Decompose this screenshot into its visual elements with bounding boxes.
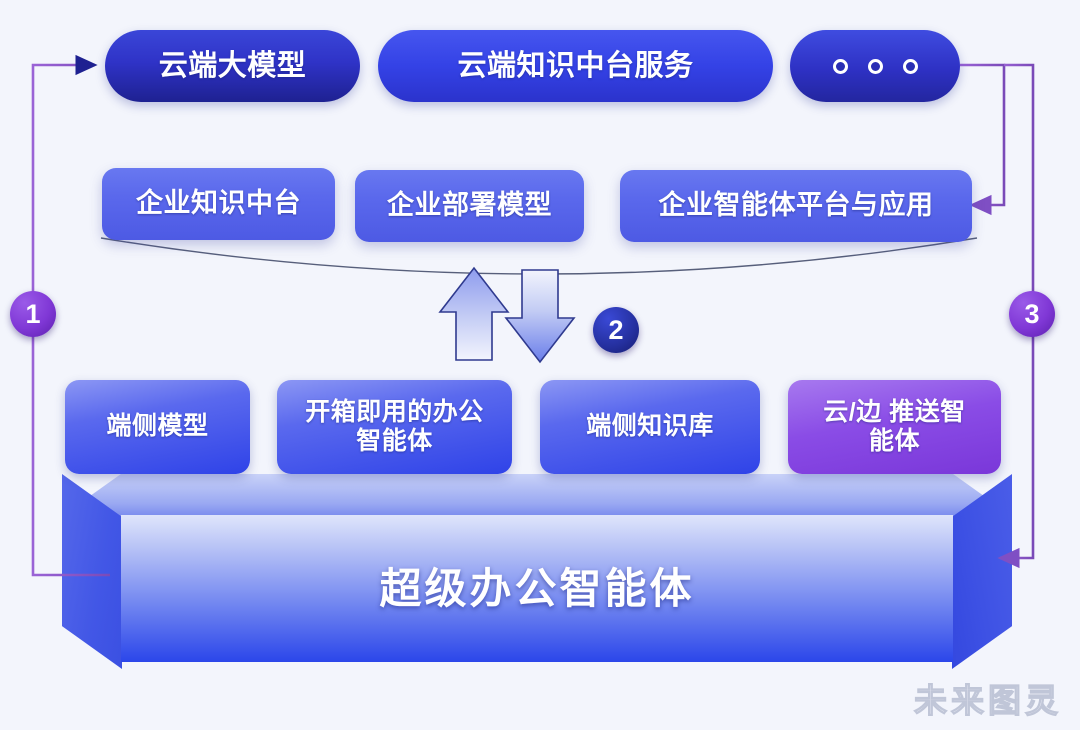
enterprise-box-agent-platform[interactable]: 企业智能体平台与应用 [620,170,972,242]
badge-step-3: 3 [1009,291,1055,337]
ellipsis-dot [903,59,918,74]
diagram-canvas: 云端大模型 云端知识中台服务 企业知识中台 企业部署模型 企业智能体平台与应用 … [0,0,1080,730]
device-card-ready-to-use-agent-label: 开箱即用的办公 智能体 [305,398,484,457]
cloud-pill-more[interactable] [790,30,960,102]
enterprise-box-deployed-model[interactable]: 企业部署模型 [355,170,584,242]
badge-step-3-number: 3 [1024,299,1039,330]
slab-top-face [62,474,1012,516]
device-card-ready-to-use-agent[interactable]: 开箱即用的办公 智能体 [277,380,512,474]
cloud-pill-large-model[interactable]: 云端大模型 [105,30,360,102]
badge-step-2-number: 2 [608,315,623,346]
cloud-pill-large-model-label: 云端大模型 [159,49,307,83]
enterprise-box-knowledge-platform[interactable]: 企业知识中台 [102,168,335,240]
ellipsis-dot [833,59,848,74]
watermark: 未来图灵 [914,674,1062,722]
badge-step-1: 1 [10,291,56,337]
cloud-boundary-arc [101,238,977,274]
device-card-cloud-edge-push-agent-label: 云/边 推送智 能体 [823,398,965,457]
enterprise-box-knowledge-platform-label: 企业知识中台 [136,188,301,220]
device-card-edge-model[interactable]: 端侧模型 [65,380,250,474]
base-platform-slab[interactable]: 超级办公智能体 [62,474,1012,669]
ellipsis-dots-icon [833,59,918,74]
badge-step-2: 2 [593,307,639,353]
enterprise-box-deployed-model-label: 企业部署模型 [387,190,552,222]
device-card-edge-knowledge-base[interactable]: 端侧知识库 [540,380,760,474]
up-block-arrow [440,268,508,360]
ellipsis-dot [868,59,883,74]
device-card-edge-knowledge-base-label: 端侧知识库 [586,412,714,442]
base-platform-label: 超级办公智能体 [379,564,694,614]
cloud-pill-knowledge-service[interactable]: 云端知识中台服务 [378,30,773,102]
slab-front-face: 超级办公智能体 [121,515,953,662]
cloud-pill-knowledge-service-label: 云端知识中台服务 [457,49,693,83]
device-card-edge-model-label: 端侧模型 [106,412,208,442]
down-block-arrow [506,270,574,362]
enterprise-box-agent-platform-label: 企业智能体平台与应用 [659,190,934,222]
device-card-cloud-edge-push-agent[interactable]: 云/边 推送智 能体 [788,380,1001,474]
badge-step-1-number: 1 [25,299,40,330]
